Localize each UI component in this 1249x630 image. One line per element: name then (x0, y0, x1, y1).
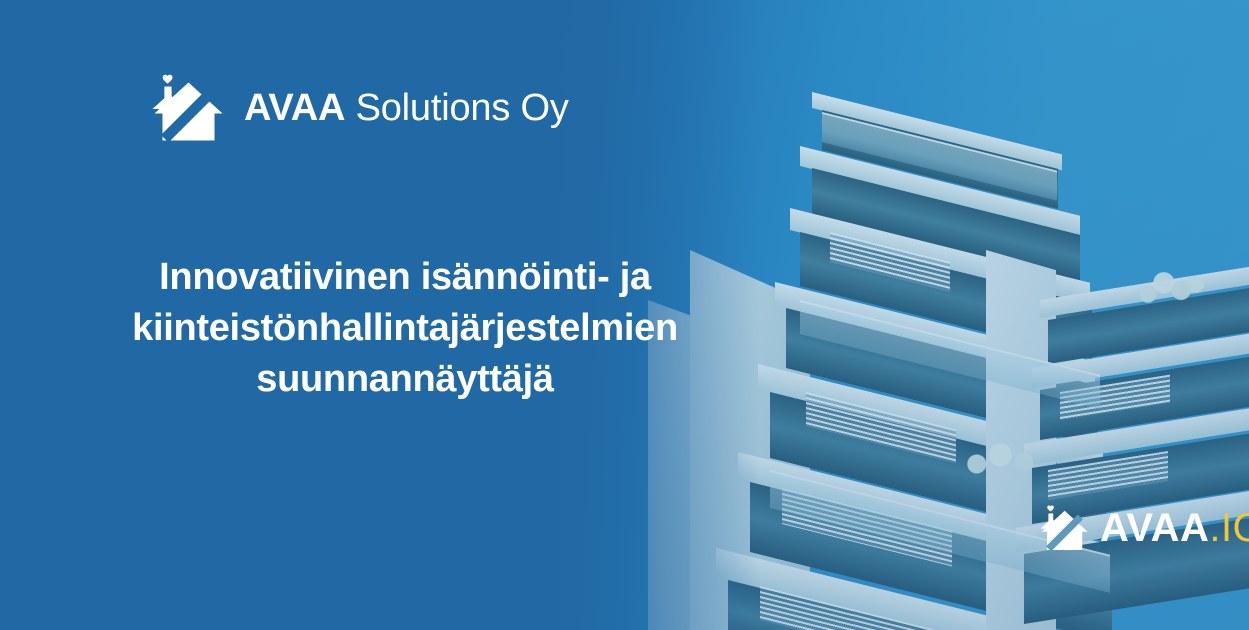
brand-name: AVAA Solutions Oy (244, 89, 569, 127)
brand-name-bold: AVAA (244, 87, 345, 129)
hero-headline: Innovatiivinen isännöinti- ja kiinteistö… (60, 252, 750, 405)
house-logo-icon (1040, 503, 1090, 553)
headline-line-2: kiinteistönhallintajärjestelmien (60, 303, 750, 354)
hero-banner: AVAA Solutions Oy Innovatiivinen isännöi… (0, 0, 1249, 630)
rooftop-planting (1135, 262, 1207, 308)
balcony-planting (960, 438, 1044, 478)
house-logo-icon (152, 72, 226, 144)
watermark-text: AVAA.IO (1100, 508, 1249, 548)
watermark-tld: .IO (1209, 506, 1249, 550)
avaa-io-watermark[interactable]: AVAA.IO (1040, 503, 1249, 553)
headline-line-1: Innovatiivinen isännöinti- ja (60, 252, 750, 303)
brand-logo[interactable]: AVAA Solutions Oy (152, 72, 569, 144)
brand-name-light: Solutions Oy (345, 87, 568, 129)
watermark-name: AVAA (1100, 506, 1209, 550)
headline-line-3: suunnannäyttäjä (60, 354, 750, 405)
